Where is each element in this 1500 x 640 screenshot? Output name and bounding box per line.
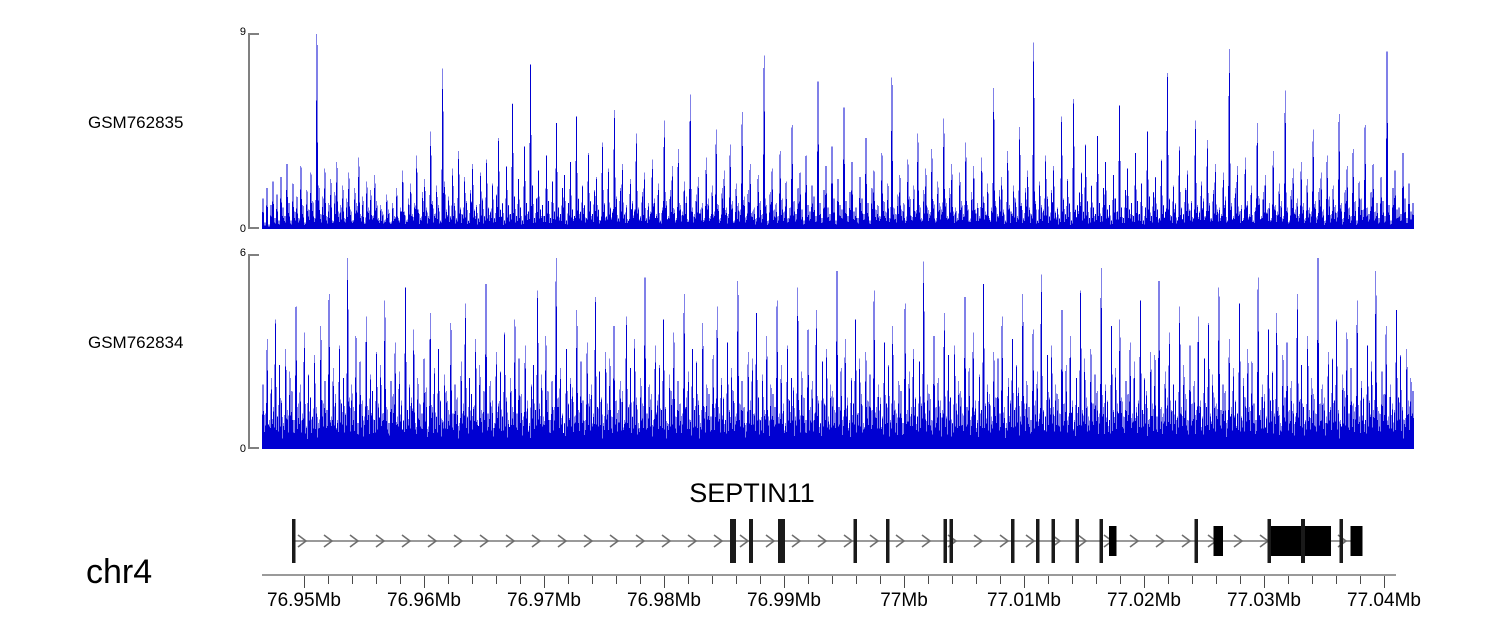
axis-tick-minor bbox=[472, 576, 473, 584]
axis-tick-minor bbox=[1000, 576, 1001, 584]
axis-tick-minor bbox=[1288, 576, 1289, 584]
axis-tick-major bbox=[784, 576, 785, 588]
axis-tick-minor bbox=[880, 576, 881, 584]
axis-tick-minor bbox=[520, 576, 521, 584]
y-axis-tick-max bbox=[248, 254, 259, 256]
axis-tick-minor bbox=[712, 576, 713, 584]
axis-tick-label: 76.96Mb bbox=[387, 590, 461, 612]
y-axis-track-2: 6 0 bbox=[248, 254, 260, 449]
axis-tick-minor bbox=[976, 576, 977, 584]
axis-tick-minor bbox=[952, 576, 953, 584]
axis-tick-major bbox=[1384, 576, 1385, 588]
y-axis-max-label: 9 bbox=[240, 27, 246, 38]
axis-tick-label: 76.99Mb bbox=[747, 590, 821, 612]
y-axis-tick-min bbox=[248, 447, 259, 449]
track-label-gsm762835: GSM762835 bbox=[88, 113, 183, 133]
axis-tick-minor bbox=[808, 576, 809, 584]
axis-tick-minor bbox=[1168, 576, 1169, 584]
axis-tick-major bbox=[1144, 576, 1145, 588]
axis-tick-minor bbox=[856, 576, 857, 584]
axis-tick-major bbox=[424, 576, 425, 588]
axis-tick-label: 77.01Mb bbox=[987, 590, 1061, 612]
axis-tick-label: 76.97Mb bbox=[507, 590, 581, 612]
axis-tick-minor bbox=[760, 576, 761, 584]
genomic-coordinate-axis: 76.95Mb76.96Mb76.97Mb76.98Mb76.99Mb77Mb7… bbox=[262, 574, 1422, 634]
axis-tick-label: 77.04Mb bbox=[1347, 590, 1421, 612]
axis-tick-minor bbox=[688, 576, 689, 584]
axis-tick-minor bbox=[568, 576, 569, 584]
axis-tick-minor bbox=[832, 576, 833, 584]
axis-tick-minor bbox=[592, 576, 593, 584]
axis-tick-label: 77.03Mb bbox=[1227, 590, 1301, 612]
axis-tick-major bbox=[544, 576, 545, 588]
axis-tick-major bbox=[1264, 576, 1265, 588]
coverage-track-gsm762835[interactable] bbox=[262, 33, 1414, 229]
axis-tick-major bbox=[1024, 576, 1025, 588]
axis-tick-label: 77Mb bbox=[880, 590, 928, 612]
y-axis-tick-max bbox=[248, 33, 259, 35]
axis-tick-minor bbox=[376, 576, 377, 584]
axis-tick-minor bbox=[1240, 576, 1241, 584]
y-axis-tick-min bbox=[248, 227, 259, 229]
axis-tick-minor bbox=[616, 576, 617, 584]
coverage-track-gsm762834[interactable] bbox=[262, 254, 1414, 449]
y-axis-min-label: 0 bbox=[240, 444, 246, 455]
axis-tick-minor bbox=[1048, 576, 1049, 584]
y-axis-spine bbox=[248, 33, 250, 229]
axis-tick-minor bbox=[928, 576, 929, 584]
axis-tick-minor bbox=[1336, 576, 1337, 584]
axis-tick-minor bbox=[400, 576, 401, 584]
axis-tick-minor bbox=[448, 576, 449, 584]
y-axis-spine bbox=[248, 254, 250, 449]
axis-tick-label: 76.98Mb bbox=[627, 590, 701, 612]
axis-tick-minor bbox=[1072, 576, 1073, 584]
axis-tick-label: 76.95Mb bbox=[267, 590, 341, 612]
axis-tick-label: 77.02Mb bbox=[1107, 590, 1181, 612]
axis-tick-minor bbox=[1312, 576, 1313, 584]
axis-tick-minor bbox=[328, 576, 329, 584]
axis-tick-minor bbox=[496, 576, 497, 584]
chromosome-label: chr4 bbox=[86, 553, 152, 592]
gene-name-label: SEPTIN11 bbox=[689, 478, 815, 509]
y-axis-max-label: 6 bbox=[240, 248, 246, 259]
axis-tick-minor bbox=[736, 576, 737, 584]
y-axis-track-1: 9 0 bbox=[248, 33, 260, 229]
axis-tick-minor bbox=[1360, 576, 1361, 584]
axis-tick-minor bbox=[1096, 576, 1097, 584]
axis-baseline bbox=[262, 574, 1396, 576]
axis-tick-minor bbox=[1216, 576, 1217, 584]
axis-tick-minor bbox=[1192, 576, 1193, 584]
track-label-gsm762834: GSM762834 bbox=[88, 333, 183, 353]
axis-tick-major bbox=[904, 576, 905, 588]
gene-model-track[interactable] bbox=[262, 512, 1414, 566]
axis-tick-major bbox=[304, 576, 305, 588]
genome-browser-view: GSM762835 9 0 GSM762834 6 0 SEPTIN11 chr… bbox=[0, 0, 1500, 640]
axis-tick-major bbox=[664, 576, 665, 588]
y-axis-min-label: 0 bbox=[240, 224, 246, 235]
axis-tick-minor bbox=[1120, 576, 1121, 584]
axis-tick-minor bbox=[640, 576, 641, 584]
axis-tick-minor bbox=[352, 576, 353, 584]
